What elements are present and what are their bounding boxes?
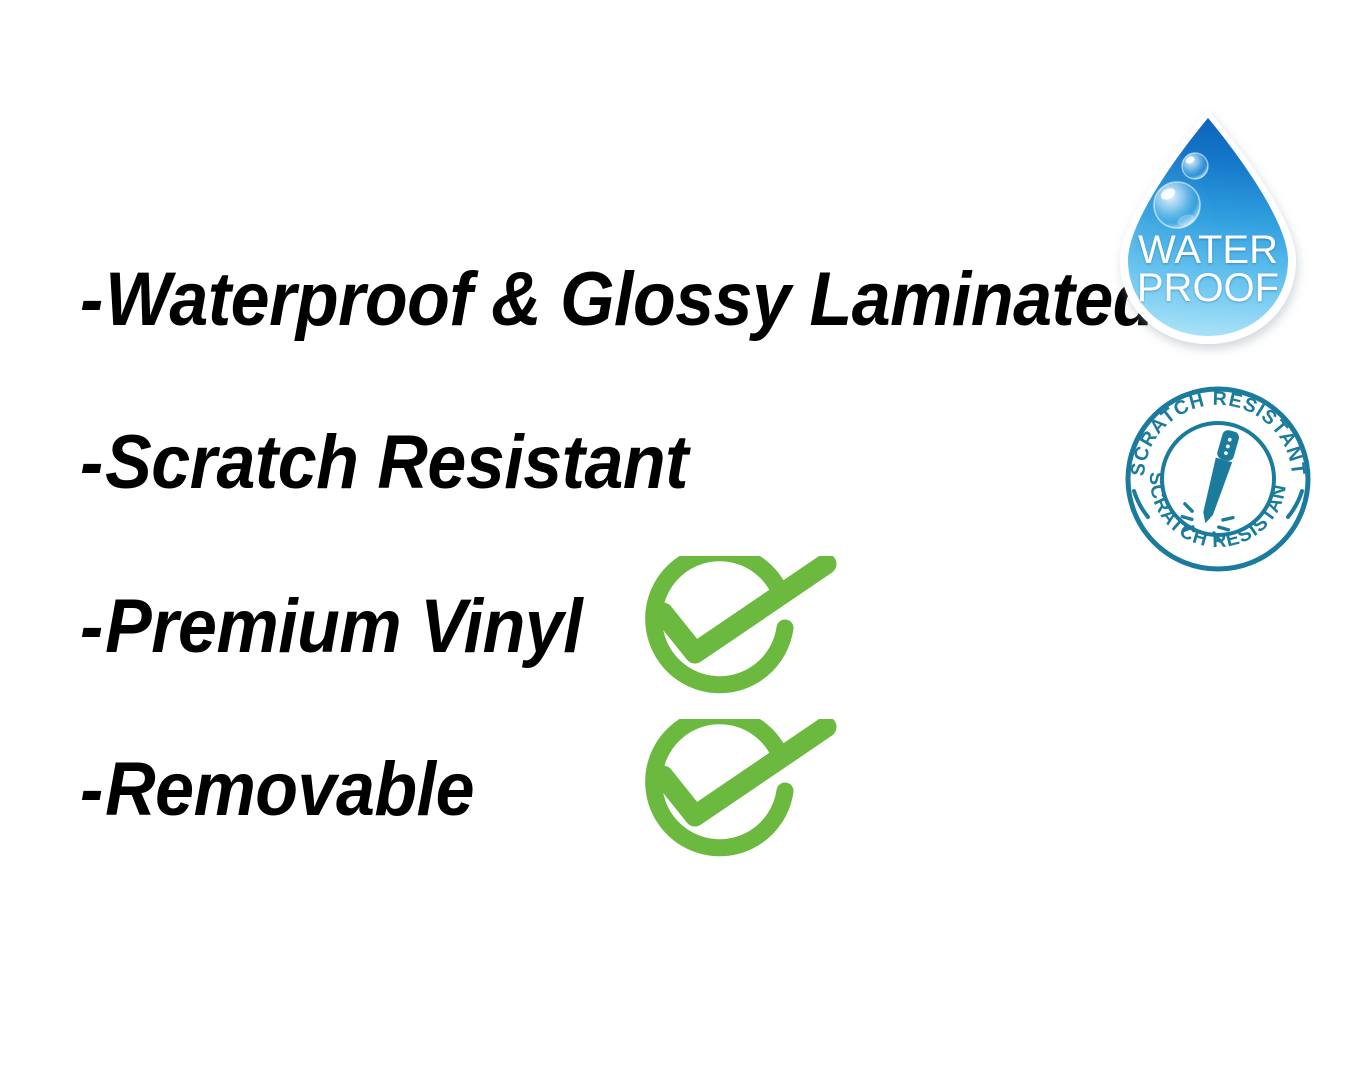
feature-label: Scratch Resistant xyxy=(105,420,688,505)
scratch-resistant-badge: SCRATCH RESISTANT SCRATCH RESISTANT xyxy=(1122,383,1314,575)
feature-item-removable: -Removable xyxy=(80,752,474,828)
check-circle-icon xyxy=(640,556,840,711)
feature-item-waterproof: -Waterproof & Glossy Laminated xyxy=(80,262,1155,338)
check-circle-icon xyxy=(640,719,840,874)
feature-dash: - xyxy=(80,747,105,832)
knife-stamp-icon: SCRATCH RESISTANT SCRATCH RESISTANT xyxy=(1122,383,1314,575)
feature-dash: - xyxy=(80,420,105,505)
water-bubble-small xyxy=(1182,153,1208,179)
feature-dash: - xyxy=(80,257,105,342)
check-mark-removable xyxy=(640,719,840,874)
feature-label: Removable xyxy=(105,747,474,832)
feature-list: -Waterproof & Glossy Laminated -Scratch … xyxy=(0,0,1100,1080)
feature-graphic: -Waterproof & Glossy Laminated -Scratch … xyxy=(0,0,1359,1080)
waterproof-badge: WATER PROOF xyxy=(1106,108,1310,364)
water-drop-icon xyxy=(1106,108,1310,364)
feature-item-scratch-resistant: -Scratch Resistant xyxy=(80,425,688,501)
feature-item-premium-vinyl: -Premium Vinyl xyxy=(80,589,582,665)
check-mark-premium-vinyl xyxy=(640,556,840,711)
feature-dash: - xyxy=(80,584,105,669)
water-bubble-large xyxy=(1154,182,1200,228)
feature-label: Premium Vinyl xyxy=(105,584,582,669)
feature-label: Waterproof & Glossy Laminated xyxy=(105,257,1155,342)
